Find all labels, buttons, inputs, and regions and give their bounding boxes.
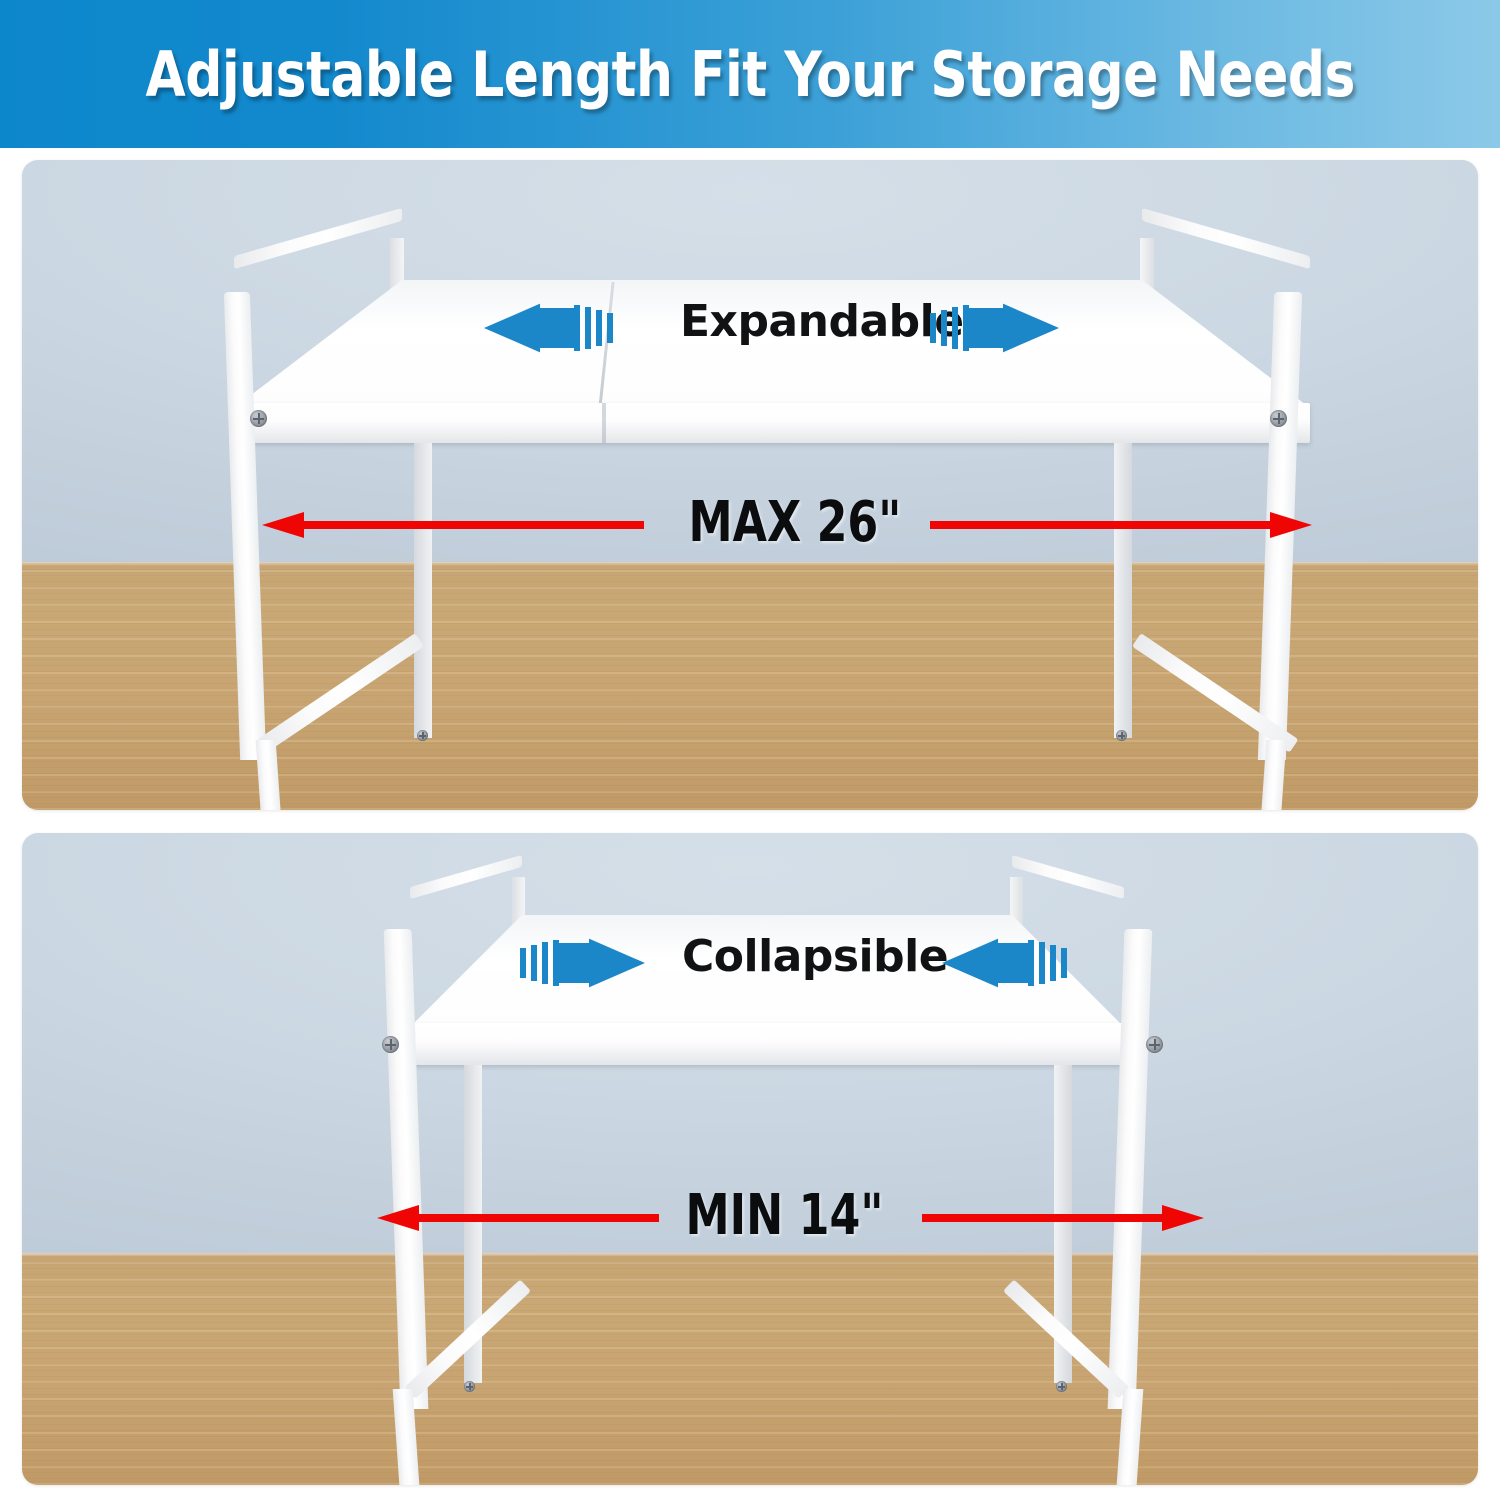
arrow-head-left-icon — [942, 925, 998, 1001]
arrow-shaft — [998, 943, 1028, 983]
min-measure-right — [922, 1205, 1204, 1231]
arrow-head-right-icon — [1003, 290, 1059, 366]
rack-right-brace-screw-top — [1116, 730, 1127, 741]
arrow-shaft — [969, 308, 1003, 348]
rack-shelf-front-seam — [602, 403, 606, 443]
rack-left-brace-screw-top — [464, 1381, 475, 1392]
panel-expandable: Expandable MAX 26" — [22, 160, 1478, 810]
countertop-surface — [22, 1253, 1478, 1485]
rack-left-brace-screw-top — [417, 730, 428, 741]
rack-left-screw — [250, 410, 267, 427]
min-measure-left — [377, 1205, 659, 1231]
max-measure-right — [930, 512, 1312, 538]
min-dimension-label: MIN 14" — [685, 1183, 883, 1248]
measure-shaft — [419, 1214, 659, 1222]
rack-right-brace-screw-top — [1056, 1381, 1067, 1392]
rack-shelf-front-edge — [234, 403, 1310, 443]
arrow-head-right-icon — [589, 925, 645, 1001]
motion-stripes-icon — [574, 305, 613, 351]
expandable-arrow-right — [930, 290, 1059, 366]
collapsible-arrow-right — [942, 925, 1067, 1001]
expandable-arrow-left — [484, 290, 613, 366]
product-infographic: Adjustable Length Fit Your Storage Needs — [0, 0, 1500, 1500]
rack-left-screw — [382, 1036, 399, 1053]
rack-left-inner-leg — [414, 443, 432, 738]
expandable-label: Expandable — [680, 296, 964, 347]
measure-arrowhead-left-icon — [262, 512, 304, 538]
measure-shaft — [304, 521, 644, 529]
motion-stripes-icon — [930, 305, 969, 351]
rack-right-inner-leg — [1114, 443, 1132, 738]
rack-right-screw — [1146, 1036, 1163, 1053]
panel-collapsible: Collapsible MIN 14" — [22, 833, 1478, 1485]
rack-right-screw — [1270, 410, 1287, 427]
arrow-shaft — [559, 943, 589, 983]
measure-arrowhead-right-icon — [1162, 1205, 1204, 1231]
rack-shelf-front-edge — [410, 1023, 1124, 1065]
arrow-shaft — [540, 308, 574, 348]
header-banner: Adjustable Length Fit Your Storage Needs — [0, 0, 1500, 148]
arrow-head-left-icon — [484, 290, 540, 366]
motion-stripes-icon — [1028, 940, 1067, 986]
max-dimension-label: MAX 26" — [689, 490, 902, 555]
measure-arrowhead-right-icon — [1270, 512, 1312, 538]
measure-arrowhead-left-icon — [377, 1205, 419, 1231]
page-title: Adjustable Length Fit Your Storage Needs — [145, 38, 1354, 111]
measure-shaft — [930, 521, 1270, 529]
max-measure-left — [262, 512, 644, 538]
collapsible-arrow-left — [520, 925, 645, 1001]
measure-shaft — [922, 1214, 1162, 1222]
collapsible-label: Collapsible — [682, 931, 948, 982]
motion-stripes-icon — [520, 940, 559, 986]
